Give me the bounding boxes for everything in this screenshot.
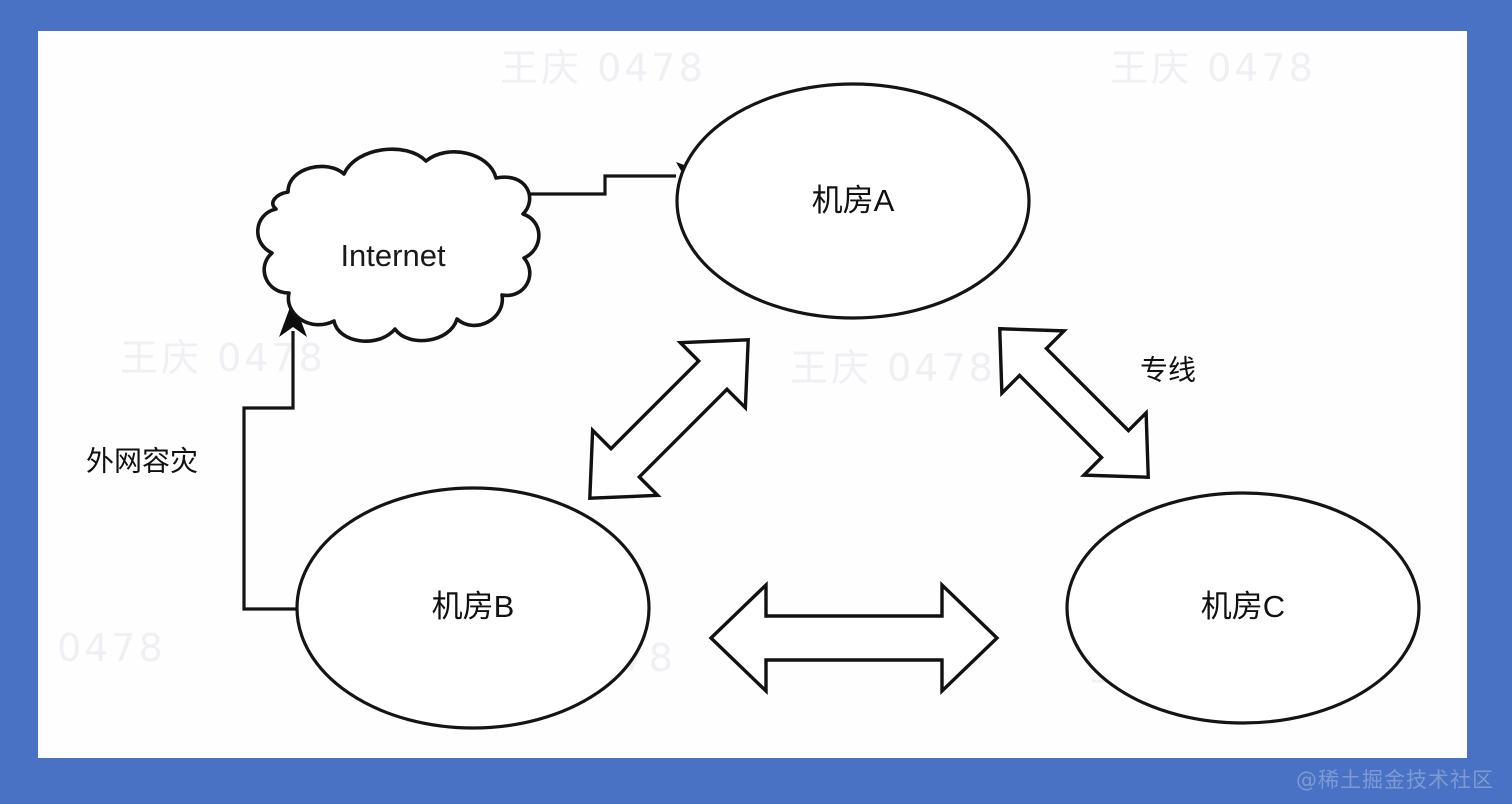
edge-dc-a-dc-b[interactable] (557, 307, 780, 530)
edge-label-dedicated-line: 专线 (1140, 354, 1196, 385)
node-dc-b[interactable]: 机房B (297, 488, 649, 728)
node-dc-c[interactable]: 机房C (1067, 493, 1419, 723)
double-arrow-icon (557, 307, 780, 530)
diagram-canvas: 王庆 0478 王庆 0478 王庆 0478 王庆 0478 王庆 0478 … (38, 31, 1467, 758)
node-dc-a[interactable]: 机房A (677, 84, 1029, 318)
attribution-watermark: @稀土掘金技术社区 (1296, 764, 1494, 794)
edge-label-external-dr: 外网容灾 (86, 445, 198, 476)
node-label-dc-a: 机房A (812, 183, 895, 218)
node-internet[interactable]: Internet (258, 149, 539, 341)
node-label-internet: Internet (340, 238, 446, 273)
connector-line (244, 331, 308, 609)
network-topology-diagram: 外网容灾 Internet 机房A 机房B 机房C (38, 31, 1467, 758)
node-label-dc-c: 机房C (1201, 589, 1285, 624)
edge-dc-b-to-internet[interactable] (244, 299, 308, 609)
edge-dc-a-dc-c[interactable] (969, 298, 1180, 509)
double-arrow-icon (711, 585, 997, 691)
double-arrow-icon (969, 298, 1180, 509)
edge-dc-b-dc-c[interactable] (711, 585, 997, 691)
node-label-dc-b: 机房B (432, 589, 515, 624)
diagram-page: 王庆 0478 王庆 0478 王庆 0478 王庆 0478 王庆 0478 … (0, 0, 1512, 804)
